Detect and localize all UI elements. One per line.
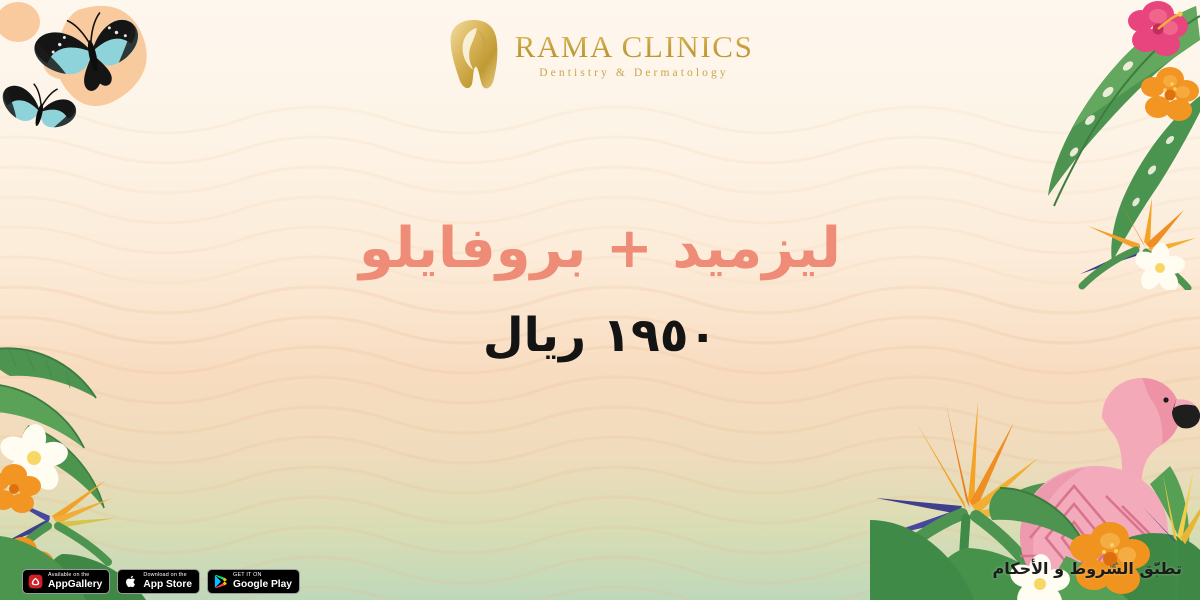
terms-and-conditions-note: تطبّق الشروط و الأحكام: [993, 559, 1182, 578]
appgallery-badge[interactable]: Available on the AppGallery: [22, 569, 110, 594]
offer-headline: ليزميد + بروفايلو: [0, 216, 1200, 281]
badge-store-name: AppGallery: [48, 580, 102, 590]
brand-logo: RAMA CLINICS Dentistry & Dermatology: [447, 18, 754, 92]
offer-price: ١٩٥٠ ريال: [0, 308, 1200, 363]
badge-store-name: Google Play: [233, 580, 292, 590]
app-store-badge[interactable]: Download on the App Store: [117, 569, 200, 594]
monstera-leaf-icon: [1048, 6, 1200, 206]
badge-top-line: Download on the: [143, 573, 192, 578]
google-play-badge[interactable]: GET IT ON Google Play: [207, 569, 300, 594]
huawei-appgallery-icon: [28, 574, 43, 589]
logo-tagline: Dentistry & Dermatology: [515, 68, 754, 80]
banana-leaf-icon: [22, 426, 104, 508]
butterfly-icon: [0, 76, 81, 134]
banana-leaf-icon: [0, 384, 84, 448]
apple-icon: [123, 574, 138, 589]
logo-brand-name: RAMA CLINICS: [515, 31, 754, 62]
store-badges: Available on the AppGallery Download on …: [22, 569, 300, 594]
butterfly-icon: [30, 6, 148, 101]
badge-top-line: Available on the: [48, 573, 102, 578]
bird-of-paradise-icon: [0, 480, 116, 564]
woman-tooth-logo-icon: [447, 18, 501, 92]
promo-banner: RAMA CLINICS Dentistry & Dermatology ليز…: [0, 0, 1200, 600]
badge-store-name: App Store: [143, 580, 192, 590]
hibiscus-flower-icon: [1070, 522, 1150, 594]
banana-leaf-icon: [870, 488, 1200, 600]
bird-of-paradise-icon: [1142, 472, 1200, 600]
orange-flower-icon: [1141, 67, 1199, 121]
butterflies-decoration: [0, 0, 180, 150]
tropical-decoration-bottom-left: [0, 340, 175, 600]
hibiscus-flower-icon: [0, 464, 41, 513]
plumeria-flower-icon: [0, 422, 70, 495]
badge-top-line: GET IT ON: [233, 573, 292, 578]
google-play-icon: [213, 574, 228, 589]
hibiscus-flower-icon: [1128, 1, 1188, 56]
